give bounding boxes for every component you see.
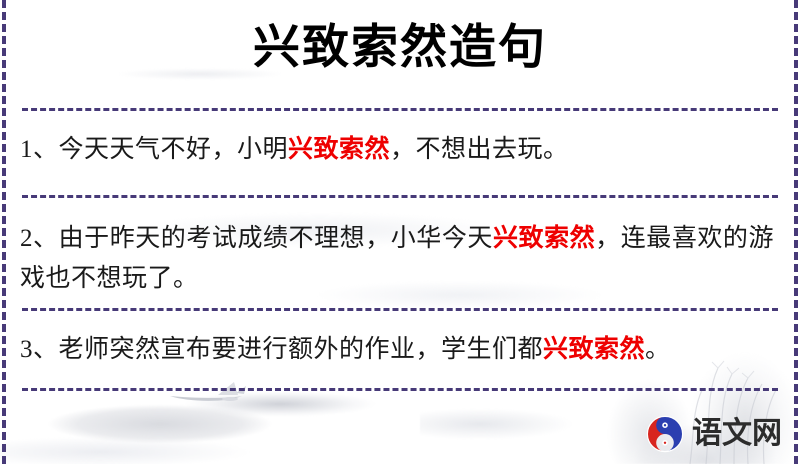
divider-1 [22, 108, 778, 111]
boat-watermark-icon [168, 380, 266, 406]
divider-4 [22, 388, 778, 391]
divider-2 [22, 195, 778, 198]
sentence-3-fragment-0: 老师突然宣布要进行额外的作业，学生们都 [59, 336, 544, 363]
site-logo-text: 语文网 [692, 419, 782, 449]
taiji-logo-icon [645, 414, 685, 454]
sentence-1-fragment-0: 今天天气不好，小明 [59, 136, 289, 163]
sentence-2-index: 2、 [20, 225, 59, 252]
sentence-1-index: 1、 [20, 136, 59, 163]
sentence-example-card: 兴致索然造句 1、今天天气不好，小明兴致索然，不想出去玩。 2、由于昨天的考试成… [0, 0, 800, 464]
page-title: 兴致索然造句 [0, 22, 800, 74]
sentence-item-2: 2、由于昨天的考试成绩不理想，小华今天兴致索然，连最喜欢的游戏也不想玩了。 [20, 219, 774, 299]
ink-wash-mid-right [420, 384, 650, 454]
sentence-2-fragment-0: 由于昨天的考试成绩不理想，小华今天 [59, 225, 493, 252]
ink-wash-bottom-left [0, 364, 410, 464]
sentence-3-idiom-highlight: 兴致索然 [543, 336, 645, 363]
site-logo[interactable]: 语文网 [645, 414, 782, 454]
sentence-3-fragment-2: 。 [645, 336, 671, 363]
sentence-item-1: 1、今天天气不好，小明兴致索然，不想出去玩。 [20, 130, 774, 170]
sentence-item-3: 3、老师突然宣布要进行额外的作业，学生们都兴致索然。 [20, 330, 774, 370]
sentence-3-index: 3、 [20, 336, 59, 363]
sentence-2-idiom-highlight: 兴致索然 [493, 225, 595, 252]
divider-3 [22, 308, 778, 311]
sentence-1-idiom-highlight: 兴致索然 [288, 136, 390, 163]
sentence-1-fragment-2: ，不想出去玩。 [390, 136, 569, 163]
